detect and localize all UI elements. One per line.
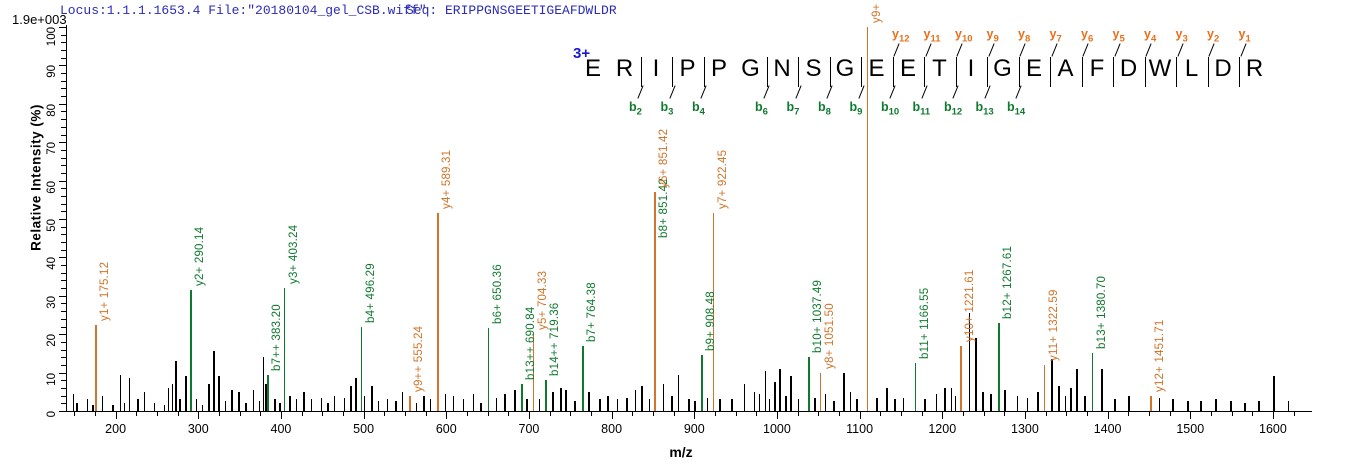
x-axis-tick [1273, 411, 1274, 419]
annotated-peak [409, 396, 411, 411]
spectrum-peak [327, 403, 329, 411]
x-axis-tick-label: 400 [270, 422, 291, 436]
spectrum-peak [607, 396, 609, 411]
spectrum-peak [688, 399, 690, 411]
spectrum-peak [387, 399, 389, 411]
spectrum-peak [1288, 401, 1290, 411]
ion-cleavage-bar [641, 57, 642, 87]
spectrum-peak [1017, 396, 1019, 411]
annotated-peak [95, 325, 97, 411]
ion-cleavage-bar [1113, 57, 1114, 87]
spectrum-peak [574, 401, 576, 411]
spectrum-peak [560, 388, 562, 411]
spectrum-peak [951, 388, 953, 411]
ion-cleavage-bar [1208, 57, 1209, 87]
spectrum-peak [886, 388, 888, 411]
y-axis-tick-label: 100 [46, 27, 58, 67]
x-axis-tick [1025, 411, 1026, 419]
x-axis-line [60, 411, 1312, 412]
ion-cleavage-bar [1050, 57, 1051, 87]
residue-22-R: R [1242, 55, 1268, 83]
ion-cleavage-bar [924, 57, 925, 87]
peak-label: b10+ 1037.49 [812, 280, 824, 353]
x-axis-minor-tick [1046, 411, 1047, 416]
annotated-peak [915, 363, 917, 411]
spectrum-peak [790, 376, 792, 411]
spectrum-peak [496, 398, 498, 411]
x-axis-minor-tick [302, 411, 303, 416]
spectrum-peak [1070, 388, 1072, 411]
spectrum-peak [526, 399, 528, 411]
b-ion-label-13: b13 [976, 100, 994, 118]
x-axis-tick [364, 411, 365, 419]
y-axis-tick-label: 0 [46, 411, 58, 451]
spectrum-peak [463, 399, 465, 411]
y-axis-tick-label: 70 [46, 142, 58, 182]
residue-15-E: E [1021, 55, 1047, 83]
b-ion-label-11: b11 [913, 100, 931, 118]
x-axis-minor-tick [674, 411, 675, 416]
x-axis-minor-tick [322, 411, 323, 416]
y-axis-tick [59, 373, 66, 374]
annotated-peak [1092, 353, 1094, 411]
y-ion-label-2: y2 [1207, 27, 1219, 45]
y-ion-label-5: y5 [1113, 27, 1125, 45]
spectrum-peak [1128, 396, 1130, 411]
x-axis-tick-label: 1300 [1011, 422, 1039, 436]
spectrum-peak [1101, 369, 1103, 411]
ion-cleavage-bar [1239, 57, 1240, 87]
spectrum-peak [744, 384, 746, 411]
x-axis-minor-tick [1170, 411, 1171, 416]
peak-label: y11+ 1322.59 [1048, 289, 1060, 361]
b-ion-label-8: b8 [818, 100, 831, 118]
b-ion-label-7: b7 [787, 100, 800, 118]
spectrum-peak [876, 398, 878, 411]
spectrum-peak [1187, 401, 1189, 411]
peak-label: y2+ 290.14 [194, 227, 206, 286]
spectrum-peak [303, 392, 305, 411]
spectrum-peak [1004, 390, 1006, 411]
peak-label: b6+ 650.36 [492, 265, 504, 325]
spectrum-peak [814, 398, 816, 411]
x-axis-minor-tick [240, 411, 241, 416]
x-axis-minor-tick [591, 411, 592, 416]
x-axis-tick-label: 300 [188, 422, 209, 436]
x-axis-tick-label: 1600 [1259, 422, 1287, 436]
spectrum-peak [774, 382, 776, 411]
x-axis-minor-tick [550, 411, 551, 416]
peak-label: y7+ 922.45 [717, 150, 729, 209]
peak-label: b13++ 690.84 [525, 307, 537, 380]
spectrum-peak [1037, 392, 1039, 411]
spectrum-peak [671, 396, 673, 411]
x-axis-tick-label: 800 [601, 422, 622, 436]
annotated-peak [998, 323, 1000, 411]
annotated-peak [960, 346, 962, 411]
spectrum-peak [936, 394, 938, 411]
spectrum-peak [798, 399, 800, 411]
y-axis-tick [59, 257, 66, 258]
y-ion-label-6: y6 [1081, 27, 1093, 45]
x-axis-tick [116, 411, 117, 419]
y-axis-tick [59, 65, 66, 66]
x-axis-minor-tick [95, 411, 96, 416]
spectrum-peak [955, 396, 957, 411]
y-axis-tick-label: 90 [46, 65, 58, 105]
spectrum-peak [833, 401, 835, 411]
x-axis-minor-tick [632, 411, 633, 416]
spectrum-peak [402, 392, 404, 411]
spectrum-peak [311, 399, 313, 411]
spectrum-peak [599, 399, 601, 411]
spectrum-peak [453, 396, 455, 411]
peak-label: y3+ 403.24 [288, 225, 300, 284]
y-ion-label-8: y8 [1018, 27, 1030, 45]
annotated-peak [808, 357, 810, 411]
spectrum-peak [843, 373, 845, 411]
x-axis-minor-tick [1232, 411, 1233, 416]
y-axis-tick-label: 80 [46, 104, 58, 144]
locus-file-header: Locus:1.1.1.1653.4 File:"20180104_gel_CS… [60, 3, 427, 18]
ion-cleavage-bar [861, 57, 862, 87]
y-ion-label-4: y4 [1144, 27, 1156, 45]
annotated-peak [437, 213, 439, 411]
spectrum-peak [514, 390, 516, 411]
residue-5-P: P [706, 55, 732, 83]
x-axis-tick [777, 411, 778, 419]
spectrum-peak [588, 392, 590, 411]
residue-20-L: L [1179, 55, 1205, 83]
x-axis-minor-tick [1294, 411, 1295, 416]
x-axis-minor-tick [74, 411, 75, 416]
y-ion-label-10: y10 [955, 27, 973, 45]
spectrum-peak [112, 405, 114, 411]
y-axis-tick [59, 181, 66, 182]
peak-label: y6+ 851.42 [658, 129, 670, 188]
spectrum-peak [1159, 398, 1161, 411]
spectrum-peak [395, 401, 397, 411]
x-axis-label: m/z [0, 444, 1362, 460]
spectrum-peak [850, 392, 852, 411]
spectrum-peak [1084, 396, 1086, 411]
peak-label: y8+ 1051.50 [824, 303, 836, 369]
spectrum-peak [213, 351, 215, 411]
spectrum-peak [87, 399, 89, 411]
x-axis-minor-tick [839, 411, 840, 416]
peak-label: b7+ 764.38 [586, 282, 598, 342]
spectrum-peak [1172, 399, 1174, 411]
ion-cleavage-bar [798, 57, 799, 87]
spectrum-peak [1051, 359, 1053, 411]
x-axis-tick-label: 1200 [928, 422, 956, 436]
y-axis-tick [59, 104, 66, 105]
spectrum-peak [296, 399, 298, 411]
spectrum-peak [164, 405, 166, 411]
sequence-header: Seq: ERIPPGNSGEETIGEAFDWLDR [406, 3, 617, 18]
x-axis-tick-label: 1400 [1094, 422, 1122, 436]
spectrum-peak [924, 399, 926, 411]
residue-3-I: I [643, 55, 669, 83]
spectrum-peak [473, 394, 475, 411]
spectrum-peak [253, 390, 255, 411]
spectrum-peak [73, 394, 75, 411]
spectrum-peak [185, 376, 187, 411]
residue-13-I: I [958, 55, 984, 83]
spectrum-peak [154, 403, 156, 411]
spectrum-peak [779, 369, 781, 411]
spectrum-peak [1215, 399, 1217, 411]
annotated-peak [582, 346, 584, 411]
spectrum-peak [694, 401, 696, 411]
x-axis-tick-label: 200 [105, 422, 126, 436]
spectrum-peak [617, 399, 619, 411]
spectrum-peak [355, 378, 357, 411]
x-axis-minor-tick [1128, 411, 1129, 416]
peak-label: b4+ 496.29 [365, 263, 377, 323]
spectrum-peak [1114, 399, 1116, 411]
annotated-peak [488, 328, 490, 411]
annotated-peak [267, 375, 269, 411]
x-axis-minor-tick [260, 411, 261, 416]
spectrum-peak [539, 399, 541, 411]
spectrum-peak [263, 357, 265, 411]
x-axis-minor-tick [1149, 411, 1150, 416]
spectrum-peak [416, 403, 418, 411]
peak-label: b14++ 719.36 [549, 303, 561, 376]
y-axis-label: Relative Intensity (%) [29, 98, 44, 258]
spectrum-peak [731, 399, 733, 411]
ion-cleavage-bar [893, 57, 894, 87]
spectrum-peak [856, 399, 858, 411]
x-axis-minor-tick [736, 411, 737, 416]
y-axis-tick-label: 40 [46, 257, 58, 297]
ion-cleavage-bar [1145, 57, 1146, 87]
y-ion-label-7: y7 [1050, 27, 1062, 45]
x-axis-minor-tick [488, 411, 489, 416]
spectrum-peak [1258, 401, 1260, 411]
spectrum-peak [769, 399, 771, 411]
ion-cleavage-bar [704, 57, 705, 87]
peak-label: y9++ 555.24 [413, 325, 425, 391]
y-axis-tick-label: 30 [46, 296, 58, 336]
spectrum-peak [76, 403, 78, 411]
y-axis-tick [59, 411, 66, 412]
spectrum-peak [238, 392, 240, 411]
x-axis-minor-tick [467, 411, 468, 416]
spectrum-peak [208, 384, 210, 411]
spectrum-peak [649, 399, 651, 411]
spectrum-peak [944, 388, 946, 411]
residue-21-D: D [1210, 55, 1236, 83]
spectrum-peak [231, 390, 233, 411]
x-axis-minor-tick [136, 411, 137, 416]
x-axis-tick [1108, 411, 1109, 419]
b-ion-label-10: b10 [881, 100, 899, 118]
spectrum-peak [678, 375, 680, 411]
x-axis-minor-tick [756, 411, 757, 416]
peak-label: y10+ 1221.61 [964, 269, 976, 341]
spectrum-peak [196, 399, 198, 411]
b-ion-label-4: b4 [692, 100, 705, 118]
x-axis-minor-tick [798, 411, 799, 416]
spectrum-peak [364, 396, 366, 411]
spectrum-peak [321, 398, 323, 411]
spectrum-peak [975, 338, 977, 411]
y-ion-label-12: y12 [892, 27, 910, 45]
peak-label: b11+ 1166.55 [919, 288, 931, 359]
spectrum-peak [990, 394, 992, 411]
spectrum-peak [168, 388, 170, 411]
spectrum-peak [635, 390, 637, 411]
spectrum-peak [903, 398, 905, 411]
b-ion-label-3: b3 [661, 100, 674, 118]
x-axis-minor-tick [1087, 411, 1088, 416]
y-ion-label-1: y1 [1239, 27, 1251, 45]
peak-label: b7++ 383.20 [271, 304, 283, 371]
residue-17-F: F [1084, 55, 1110, 83]
peak-label: y5+ 704.33 [537, 271, 549, 330]
residue-7-N: N [769, 55, 795, 83]
x-axis-minor-tick [901, 411, 902, 416]
b-ion-label-12: b12 [944, 100, 962, 118]
spectrum-peak [179, 399, 181, 411]
spectrum-plot-area [66, 27, 1306, 411]
spectrum-peak [102, 396, 104, 411]
residue-6-G: G [738, 55, 764, 83]
spectrum-peak [626, 398, 628, 411]
x-axis-tick-label: 500 [353, 422, 374, 436]
y-ion-label-9: y9 [987, 27, 999, 45]
residue-11-E: E [895, 55, 921, 83]
x-axis-minor-tick [1066, 411, 1067, 416]
x-axis-minor-tick [653, 411, 654, 416]
spectrum-peak [445, 394, 447, 411]
ion-cleavage-bar [1082, 57, 1083, 87]
ion-cleavage-bar [1176, 57, 1177, 87]
x-axis-minor-tick [1211, 411, 1212, 416]
spectrum-peak [504, 394, 506, 411]
spectrum-peak [202, 405, 204, 411]
y-axis-tick [59, 142, 66, 143]
x-axis-minor-tick [384, 411, 385, 416]
x-axis-tick [198, 411, 199, 419]
x-axis-minor-tick [1004, 411, 1005, 416]
spectrum-peak [245, 403, 247, 411]
spectrum-peak [225, 401, 227, 411]
x-axis-minor-tick [508, 411, 509, 416]
annotated-peak [190, 290, 192, 411]
residue-4-P: P [675, 55, 701, 83]
x-axis-minor-tick [984, 411, 985, 416]
b-ion-label-14: b14 [1007, 100, 1025, 118]
spectrum-peak [565, 390, 567, 411]
y-axis-tick-label: 50 [46, 219, 58, 259]
annotated-peak [521, 384, 523, 411]
peak-label: y1+ 175.12 [99, 261, 111, 320]
spectrum-peak [334, 396, 336, 411]
spectrum-peak [144, 392, 146, 411]
spectrum-peak [92, 405, 94, 411]
b-ion-label-9: b9 [850, 100, 863, 118]
peak-label: b9+ 908.48 [705, 291, 717, 351]
b-ion-label-2: b2 [629, 100, 642, 118]
x-axis-tick [446, 411, 447, 419]
spectrum-peak [1200, 401, 1202, 411]
y-ion-label-3: y3 [1176, 27, 1188, 45]
x-axis-tick [694, 411, 695, 419]
residue-8-S: S [801, 55, 827, 83]
ion-cleavage-bar [672, 57, 673, 87]
x-axis-minor-tick [963, 411, 964, 416]
residue-2-R: R [612, 55, 638, 83]
y-ion-label-11: y11 [924, 27, 941, 45]
y-axis-tick [59, 27, 66, 28]
annotated-peak [701, 355, 703, 411]
spectrum-peak [1244, 403, 1246, 411]
residue-18-D: D [1116, 55, 1142, 83]
spectrum-viewer: Locus:1.1.1.1653.4 File:"20180104_gel_CS… [0, 0, 1362, 473]
spectrum-peak [480, 403, 482, 411]
spectrum-peak [1273, 376, 1275, 411]
x-axis-minor-tick [922, 411, 923, 416]
ion-cleavage-bar [1019, 57, 1020, 87]
spectrum-peak [378, 401, 380, 411]
y-axis-tick-label: 20 [46, 334, 58, 374]
spectrum-peak [172, 384, 174, 411]
spectrum-peak [430, 399, 432, 411]
spectrum-peak [274, 399, 276, 411]
peak-label: b12+ 1267.61 [1002, 246, 1014, 319]
x-axis-minor-tick [818, 411, 819, 416]
spectrum-peak [765, 371, 767, 411]
spectrum-peak [719, 399, 721, 411]
residue-10-E: E [864, 55, 890, 83]
annotated-peak [545, 380, 547, 411]
spectrum-peak [785, 396, 787, 411]
x-axis-minor-tick [178, 411, 179, 416]
residue-14-G: G [990, 55, 1016, 83]
annotated-peak [654, 192, 656, 411]
spectrum-peak [1065, 396, 1067, 411]
spectrum-peak [124, 403, 126, 411]
spectrum-peak [175, 361, 177, 411]
x-axis-tick-label: 1500 [1176, 422, 1204, 436]
residue-16-A: A [1053, 55, 1079, 83]
spectrum-peak [1230, 401, 1232, 411]
spectrum-peak [129, 378, 131, 411]
x-axis-tick-label: 700 [518, 422, 539, 436]
spectrum-peak [137, 399, 139, 411]
x-axis-tick [612, 411, 613, 419]
x-axis-minor-tick [570, 411, 571, 416]
spectrum-peak [289, 396, 291, 411]
x-axis-minor-tick [1252, 411, 1253, 416]
spectrum-peak [259, 401, 261, 411]
spectrum-peak [120, 375, 122, 411]
x-axis-tick-label: 900 [684, 422, 705, 436]
spectrum-peak [759, 394, 761, 411]
annotated-peak [867, 27, 869, 411]
x-axis-minor-tick [219, 411, 220, 416]
spectrum-peak [552, 392, 554, 411]
spectrum-peak [218, 376, 220, 411]
y-axis-tick-label: 60 [46, 181, 58, 221]
x-axis-tick [942, 411, 943, 419]
y-axis-tick [59, 296, 66, 297]
ion-cleavage-bar [987, 57, 988, 87]
annotated-peak [361, 327, 363, 411]
